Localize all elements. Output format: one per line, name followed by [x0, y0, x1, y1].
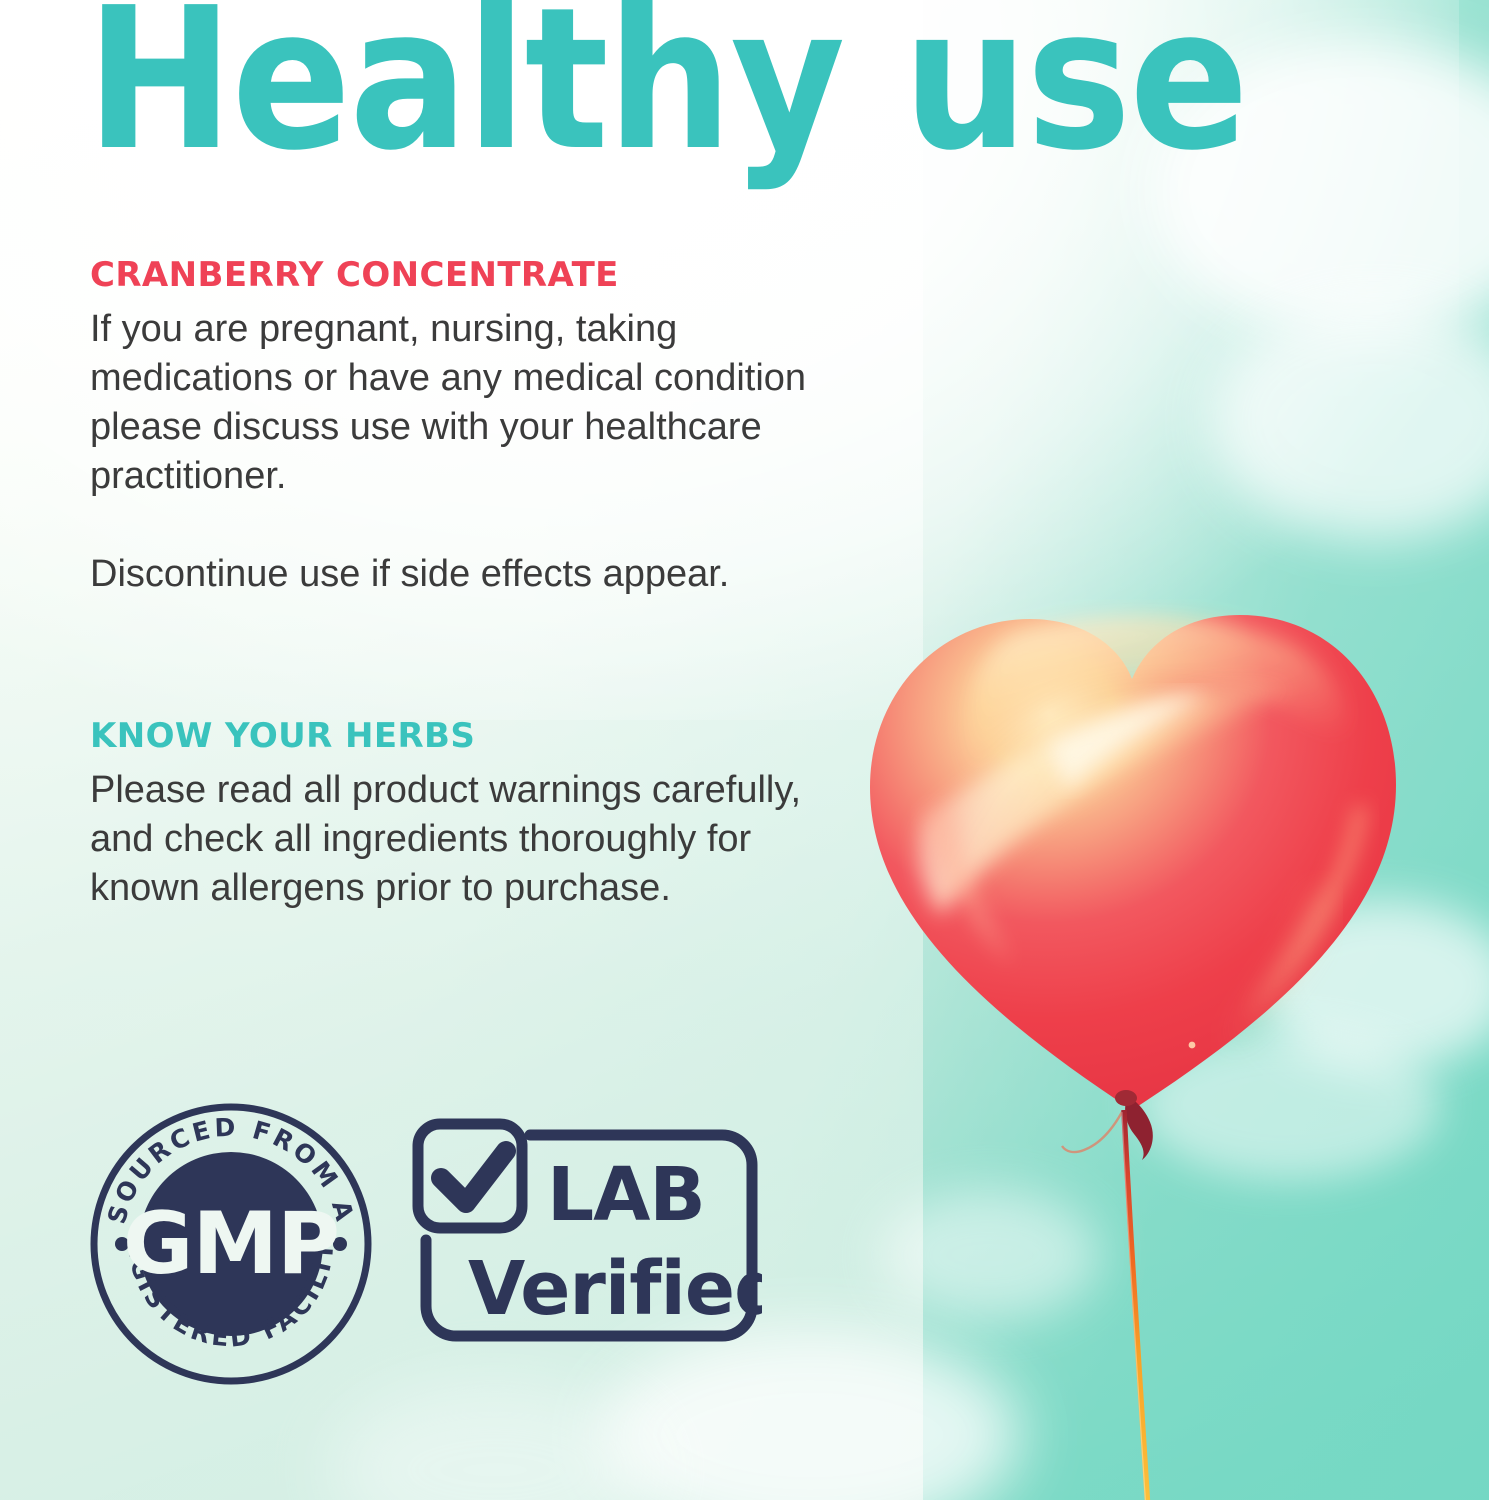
page-title: Healthy use	[86, 0, 1247, 178]
heart-balloon-icon	[862, 575, 1402, 1120]
section-body-know-your-herbs: Please read all product warnings careful…	[90, 766, 810, 913]
section-heading-cranberry: CRANBERRY CONCENTRATE	[90, 255, 810, 295]
heart-balloon-illustration	[840, 545, 1440, 1165]
section-cranberry-concentrate: CRANBERRY CONCENTRATE If you are pregnan…	[90, 255, 810, 501]
section-body-cranberry: If you are pregnant, nursing, taking med…	[90, 305, 810, 501]
lab-verified-badge-icon: LAB Verified	[410, 1118, 762, 1353]
gmp-center-text: GMP	[123, 1194, 339, 1294]
gmp-badge-icon: SOURCED FROM A REGISTERED FACILITY GMP	[90, 1103, 372, 1385]
section-heading-know-your-herbs: KNOW YOUR HERBS	[90, 716, 810, 756]
section-discontinue-use: Discontinue use if side effects appear.	[90, 550, 810, 599]
balloon-string	[1060, 1090, 1260, 1500]
check-icon	[441, 1151, 506, 1203]
lab-label: LAB	[547, 1152, 705, 1238]
verified-label: Verified	[468, 1246, 762, 1332]
section-body-discontinue: Discontinue use if side effects appear.	[90, 550, 810, 599]
healthy-use-infographic: Healthy use CRANBERRY CONCENTRATE If you…	[0, 0, 1489, 1500]
section-know-your-herbs: KNOW YOUR HERBS Please read all product …	[90, 716, 810, 913]
balloon-string-icon	[1060, 1090, 1260, 1500]
